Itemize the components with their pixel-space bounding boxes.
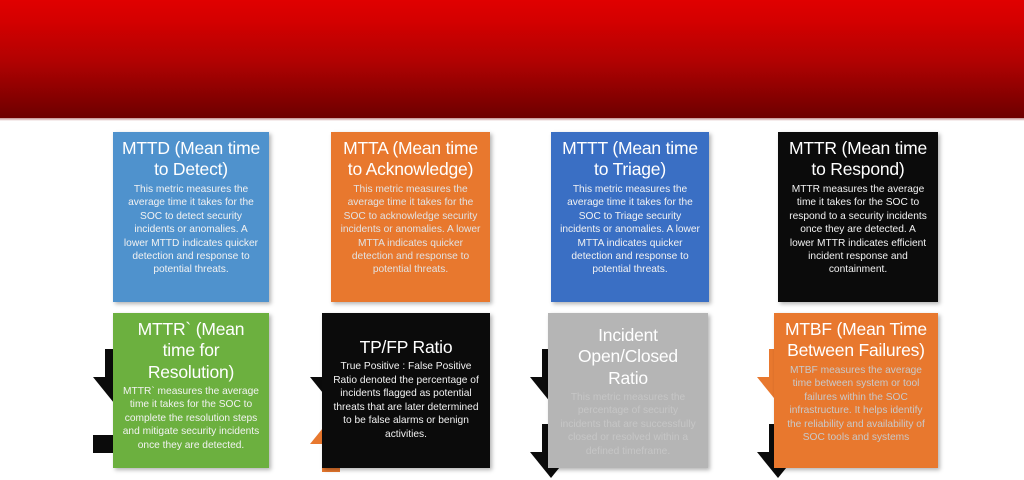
card-title: MTTR (Mean time to Respond) xyxy=(787,138,929,181)
card-title: MTTD (Mean time to Detect) xyxy=(122,138,260,181)
card-mttr-respond[interactable]: MTTR (Mean time to Respond) MTTR measure… xyxy=(778,132,938,302)
card-body: This metric measures the percentage of s… xyxy=(557,391,699,458)
card-title: MTBF (Mean Time Between Failures) xyxy=(783,319,929,362)
card-mttr-resolution[interactable]: MTTR` (Mean time for Resolution) MTTR` m… xyxy=(113,313,269,468)
card-tp-fp-ratio[interactable]: TP/FP Ratio True Positive : False Positi… xyxy=(322,313,490,468)
metrics-card-grid: MTTD (Mean time to Detect) This metric m… xyxy=(0,118,1024,480)
card-mttt[interactable]: MTTT (Mean time to Triage) This metric m… xyxy=(551,132,709,302)
card-title: MTTT (Mean time to Triage) xyxy=(560,138,700,181)
card-mtta[interactable]: MTTA (Mean time to Acknowledge) This met… xyxy=(331,132,490,302)
card-body: MTTR` measures the average time it takes… xyxy=(122,385,260,452)
slide-canvas: MTTD (Mean time to Detect) This metric m… xyxy=(0,0,1024,480)
card-title: TP/FP Ratio xyxy=(331,337,481,358)
card-body: This metric measures the average time it… xyxy=(122,183,260,277)
card-title: MTTR` (Mean time for Resolution) xyxy=(122,319,260,383)
card-body: This metric measures the average time it… xyxy=(340,183,481,277)
card-body: True Positive : False Positive Ratio den… xyxy=(331,360,481,441)
card-mtbf[interactable]: MTBF (Mean Time Between Failures) MTBF m… xyxy=(774,313,938,468)
card-body: MTTR measures the average time it takes … xyxy=(787,183,929,277)
card-incident-open-closed-ratio[interactable]: Incident Open/Closed Ratio This metric m… xyxy=(548,313,708,468)
card-body: This metric measures the average time it… xyxy=(560,183,700,277)
card-body: MTBF measures the average time between s… xyxy=(783,364,929,445)
card-title: Incident Open/Closed Ratio xyxy=(557,325,699,389)
card-title: MTTA (Mean time to Acknowledge) xyxy=(340,138,481,181)
card-mttd[interactable]: MTTD (Mean time to Detect) This metric m… xyxy=(113,132,269,302)
header-banner xyxy=(0,0,1024,118)
